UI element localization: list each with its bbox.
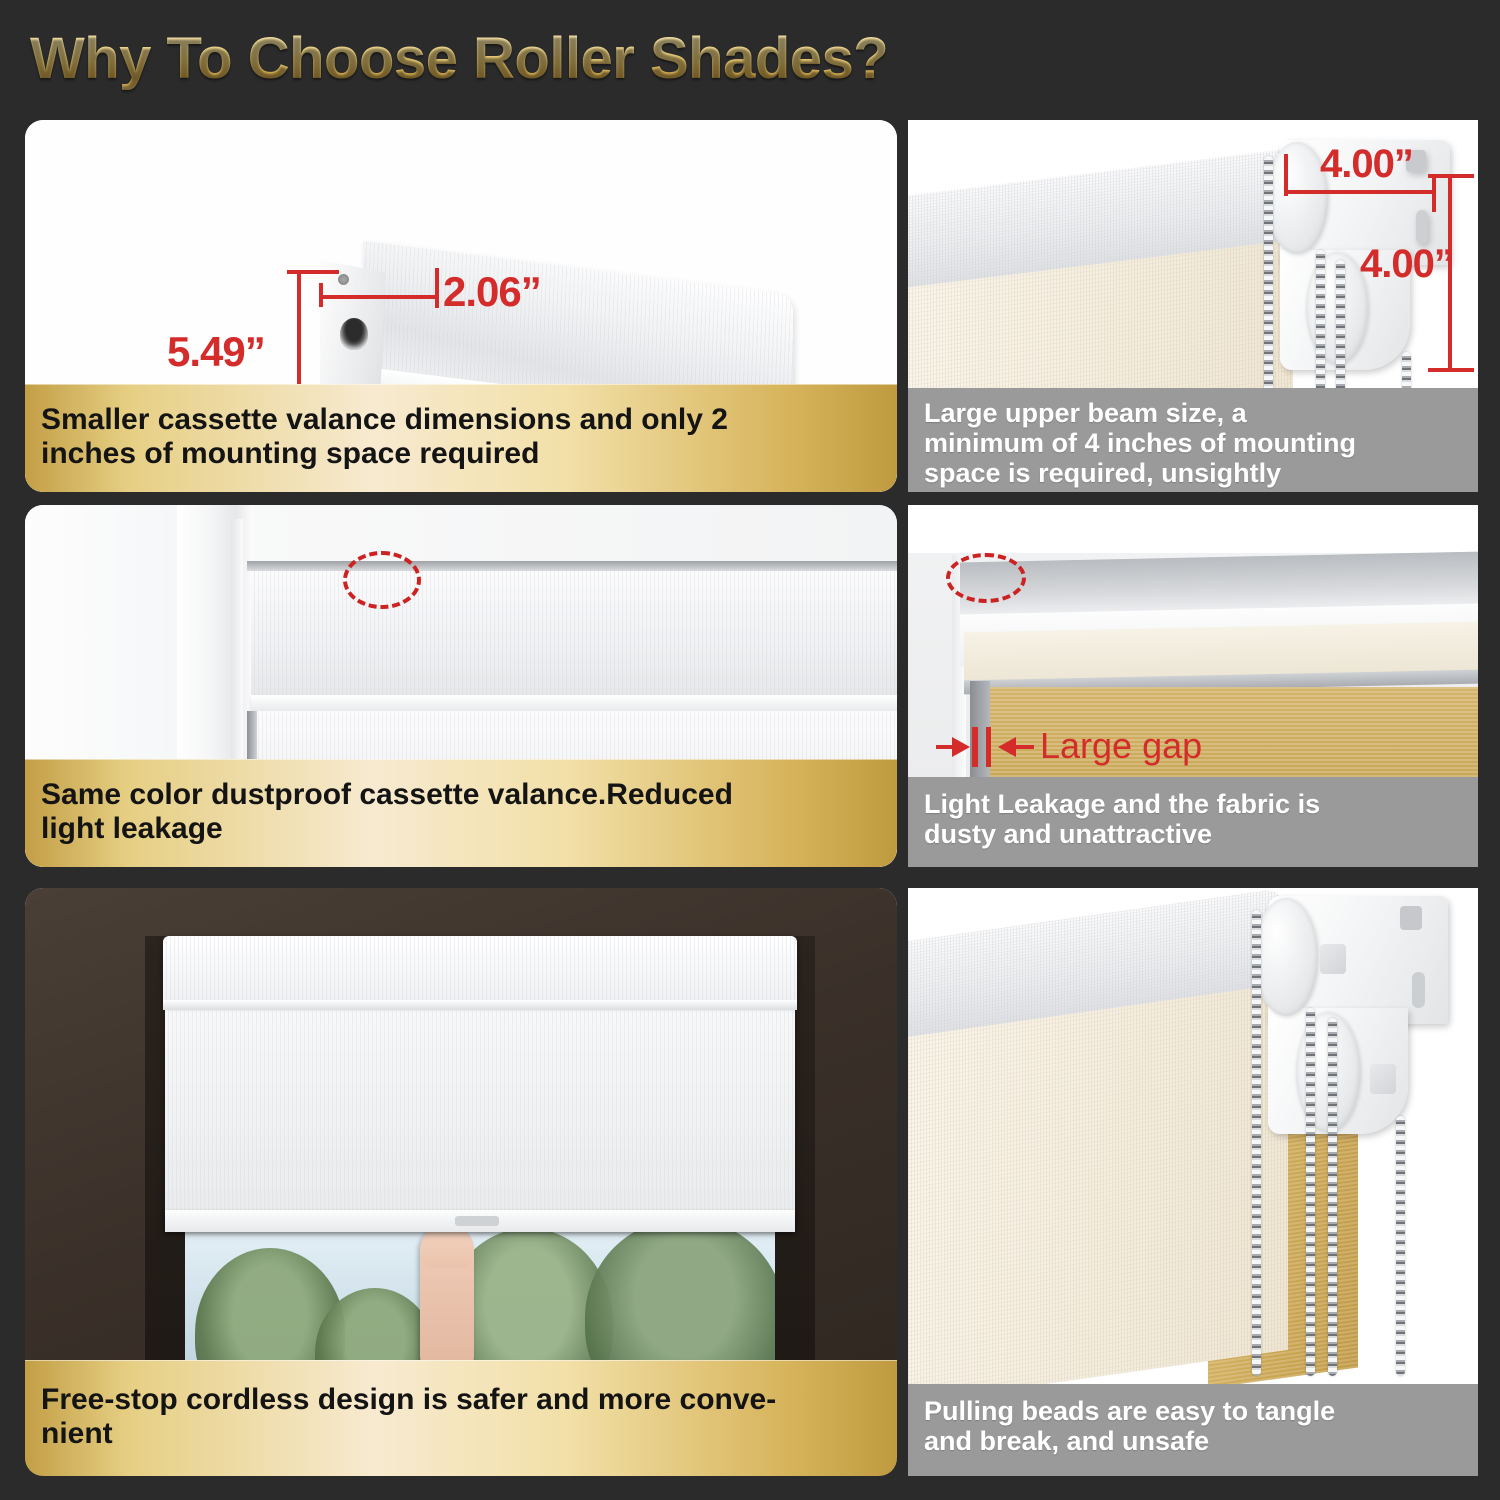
highlight-circle-gap [343,551,421,609]
beads-front-fabric [908,970,1288,1406]
large-gap-arrow-left-tail [936,745,956,749]
dim-tick-beam-height-top [1428,174,1474,178]
panel-large-upper-beam: 4.00” 4.00” Large upper beam size, a min… [908,120,1478,492]
large-gap-bar-1 [972,727,978,767]
bead-chain-long-1[interactable] [1252,910,1261,1376]
caption-bar-light-leakage: Light Leakage and the fabric is dusty an… [908,777,1478,867]
bracket-notch-b [1416,210,1428,244]
caption-text: Free-stop cordless design is safer and m… [41,1383,776,1450]
page-title: Why To Choose Roller Shades? [30,22,1130,94]
panel-free-stop-cordless: Free-stop cordless design is safer and m… [25,888,897,1476]
dim-tick-height-top [287,270,339,274]
caption-bar-same-color-dustproof-valance: Same color dustproof cassette valance.Re… [25,759,897,867]
caption-bar-pulling-beads: Pulling beads are easy to tangle and bre… [908,1384,1478,1476]
panel-pulling-beads: Pulling beads are easy to tangle and bre… [908,888,1478,1476]
caption-text: Smaller cassette valance dimensions and … [41,403,728,470]
bead-chain-3[interactable] [1336,260,1345,406]
annotation-label-large-gap: Large gap [1040,725,1202,767]
panel-smaller-cassette-valance: 2.06” 5.49” Smaller cassette valance dim… [25,120,897,492]
caption-bar-smaller-cassette-valance: Smaller cassette valance dimensions and … [25,384,897,492]
caption-text: Pulling beads are easy to tangle and bre… [924,1396,1335,1456]
panel-light-leakage: Large gap Light Leakage and the fabric i… [908,505,1478,867]
beads-bracket-notch-b [1412,972,1425,1008]
caption-text: Large upper beam size, a minimum of 4 in… [924,398,1356,489]
dimension-label-beam-height: 4.00” [1360,242,1453,287]
large-gap-bar-2 [986,727,991,767]
bead-chain-1[interactable] [1264,156,1273,406]
large-gap-arrow-right-tail [1014,745,1034,749]
caption-bar-large-upper-beam: Large upper beam size, a minimum of 4 in… [908,388,1478,492]
dimension-label-beam-width: 4.00” [1320,142,1413,187]
dim-tick-width-left [319,283,323,307]
dim-tick-width-right [435,268,439,308]
dim-line-beam-width [1286,190,1436,194]
beam-drum-upper [1266,142,1328,254]
bottom-rail-grip[interactable] [455,1216,499,1226]
ceiling-area [908,505,1478,553]
dim-tick-beam-height-bottom [1428,368,1474,372]
valance-seam [163,1000,797,1010]
caption-text: Same color dustproof cassette valance.Re… [41,778,733,845]
valance-bottom-lip [251,695,897,711]
dim-line-width [321,295,439,299]
caption-bar-free-stop-cordless: Free-stop cordless design is safer and m… [25,1360,897,1476]
page-title-text: Why To Choose Roller Shades? [30,25,888,92]
window-cassette-valance [163,936,797,1006]
bead-chain-2[interactable] [1316,250,1325,406]
highlight-circle-large-gap [946,553,1026,603]
hand-reaching [420,1224,474,1374]
bead-chain-long-4[interactable] [1396,1116,1405,1376]
bead-chain-long-2[interactable] [1306,1008,1315,1376]
dimension-label-height: 5.49” [167,328,265,376]
caption-text: Light Leakage and the fabric is dusty an… [924,789,1320,849]
panel-same-color-dustproof-valance: smaller gap Same color dustproof cassett… [25,505,897,867]
beads-bracket-notch-a [1400,906,1422,930]
beads-drum-upper [1254,898,1318,1016]
dim-tick-beam-width-left [1284,154,1288,196]
beads-bracket-logo-1 [1320,944,1346,974]
beads-bracket-logo-2 [1370,1064,1396,1094]
bead-chain-long-3[interactable] [1328,1018,1337,1376]
dim-tick-beam-width-right [1432,178,1436,212]
dimension-label-width: 2.06” [443,268,541,316]
